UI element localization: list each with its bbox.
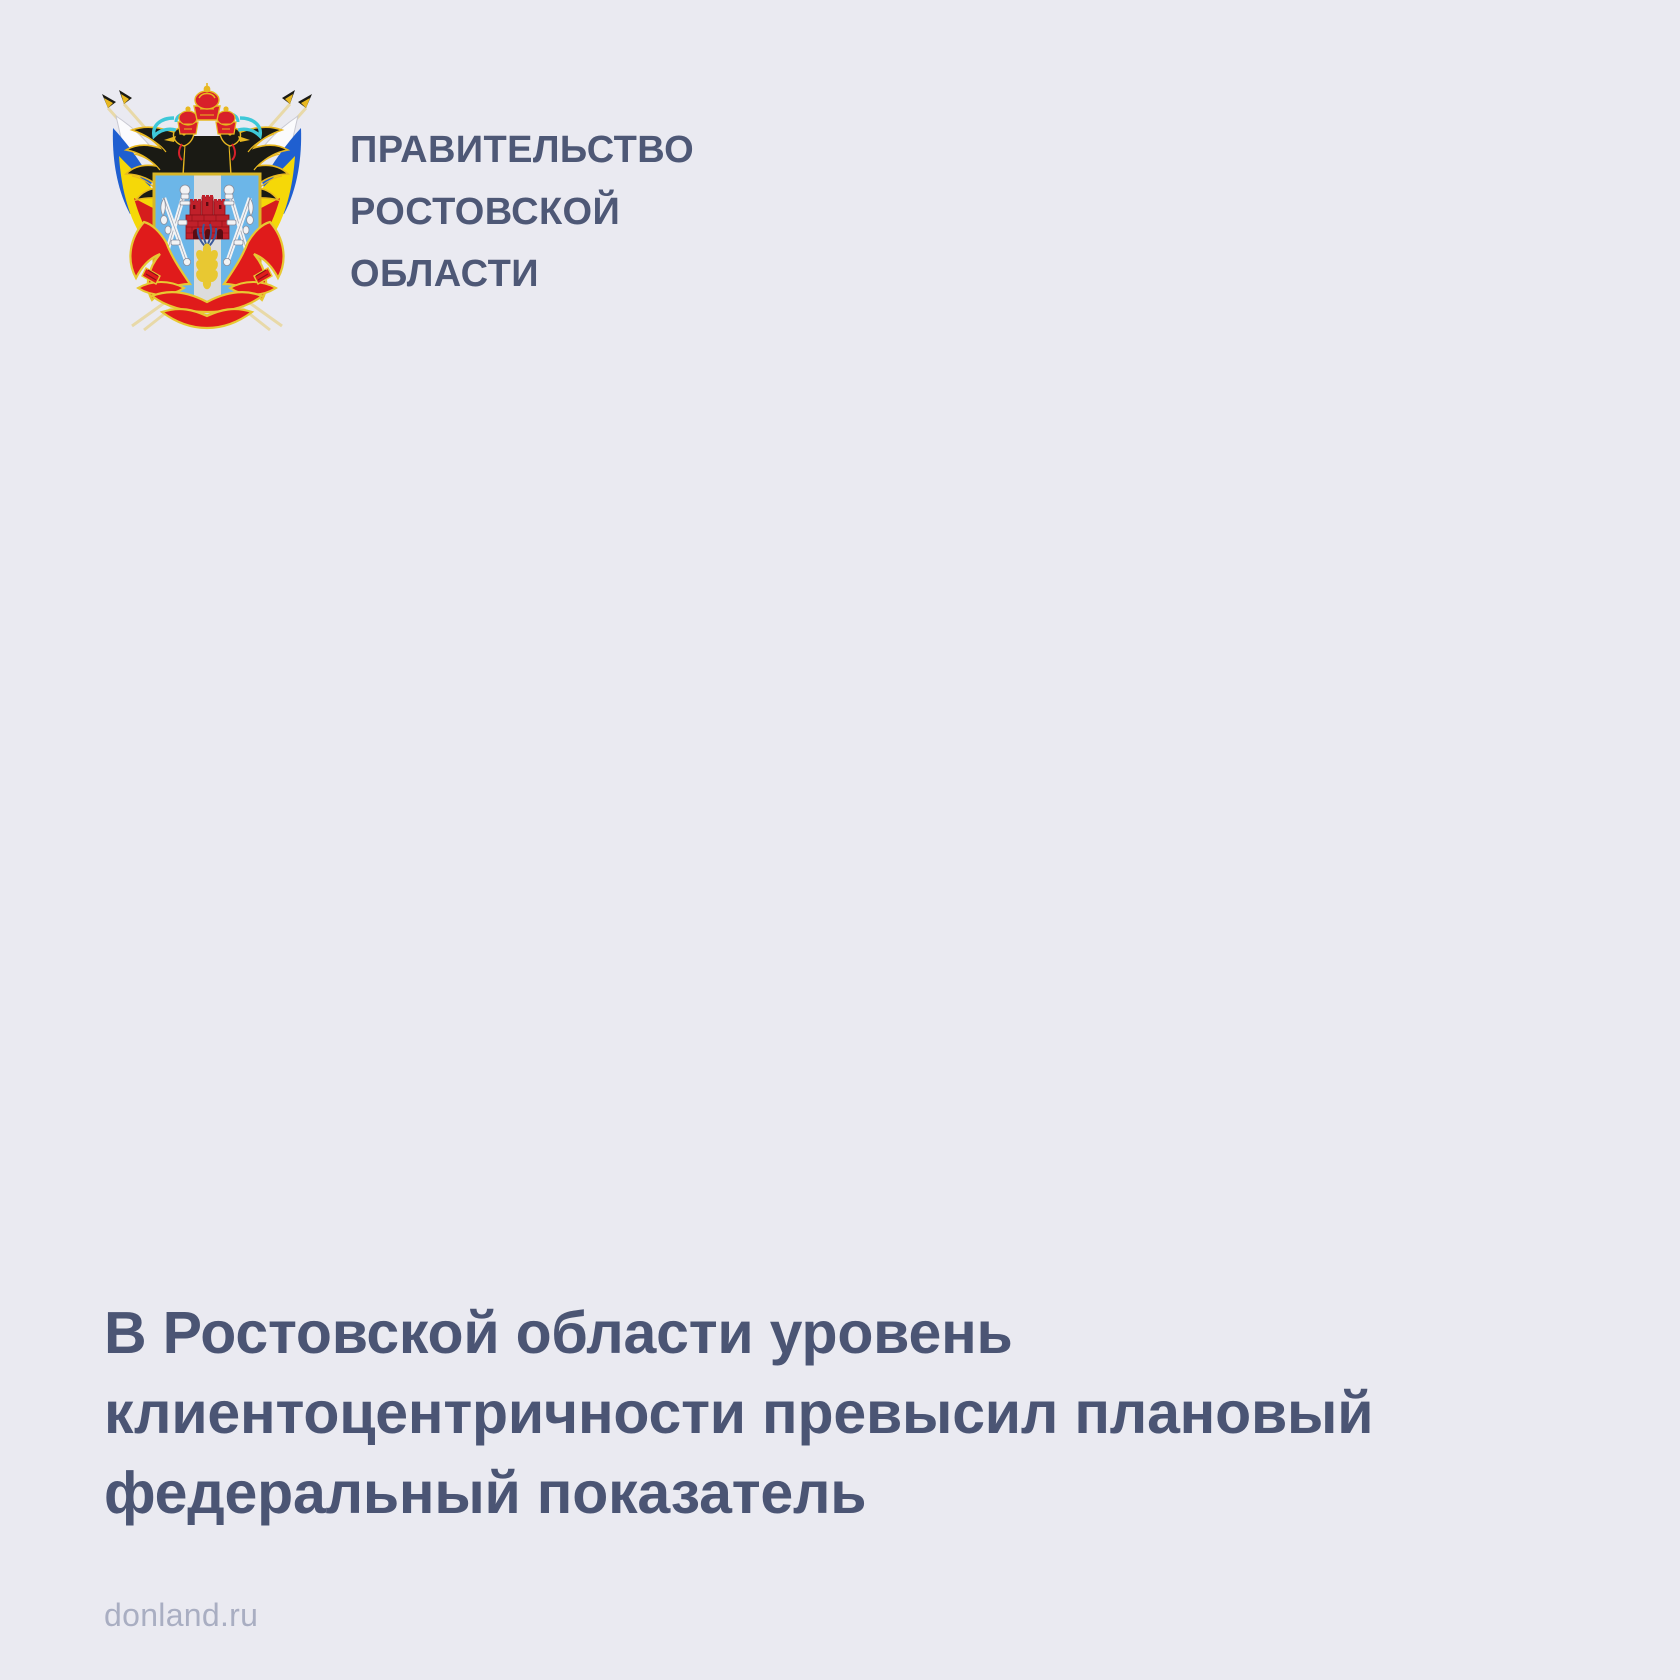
fortress <box>186 195 229 239</box>
site-url-label: donland.ru <box>104 1597 258 1634</box>
crowns <box>154 83 261 136</box>
coat-of-arms-emblem <box>86 82 328 334</box>
organization-title: ПРАВИТЕЛЬСТВО РОСТОВСКОЙ ОБЛАСТИ <box>350 119 694 305</box>
page-title: В Ростовской области уровень клиентоцент… <box>104 1293 1574 1533</box>
poster-canvas: ПРАВИТЕЛЬСТВО РОСТОВСКОЙ ОБЛАСТИ В Росто… <box>0 0 1680 1680</box>
